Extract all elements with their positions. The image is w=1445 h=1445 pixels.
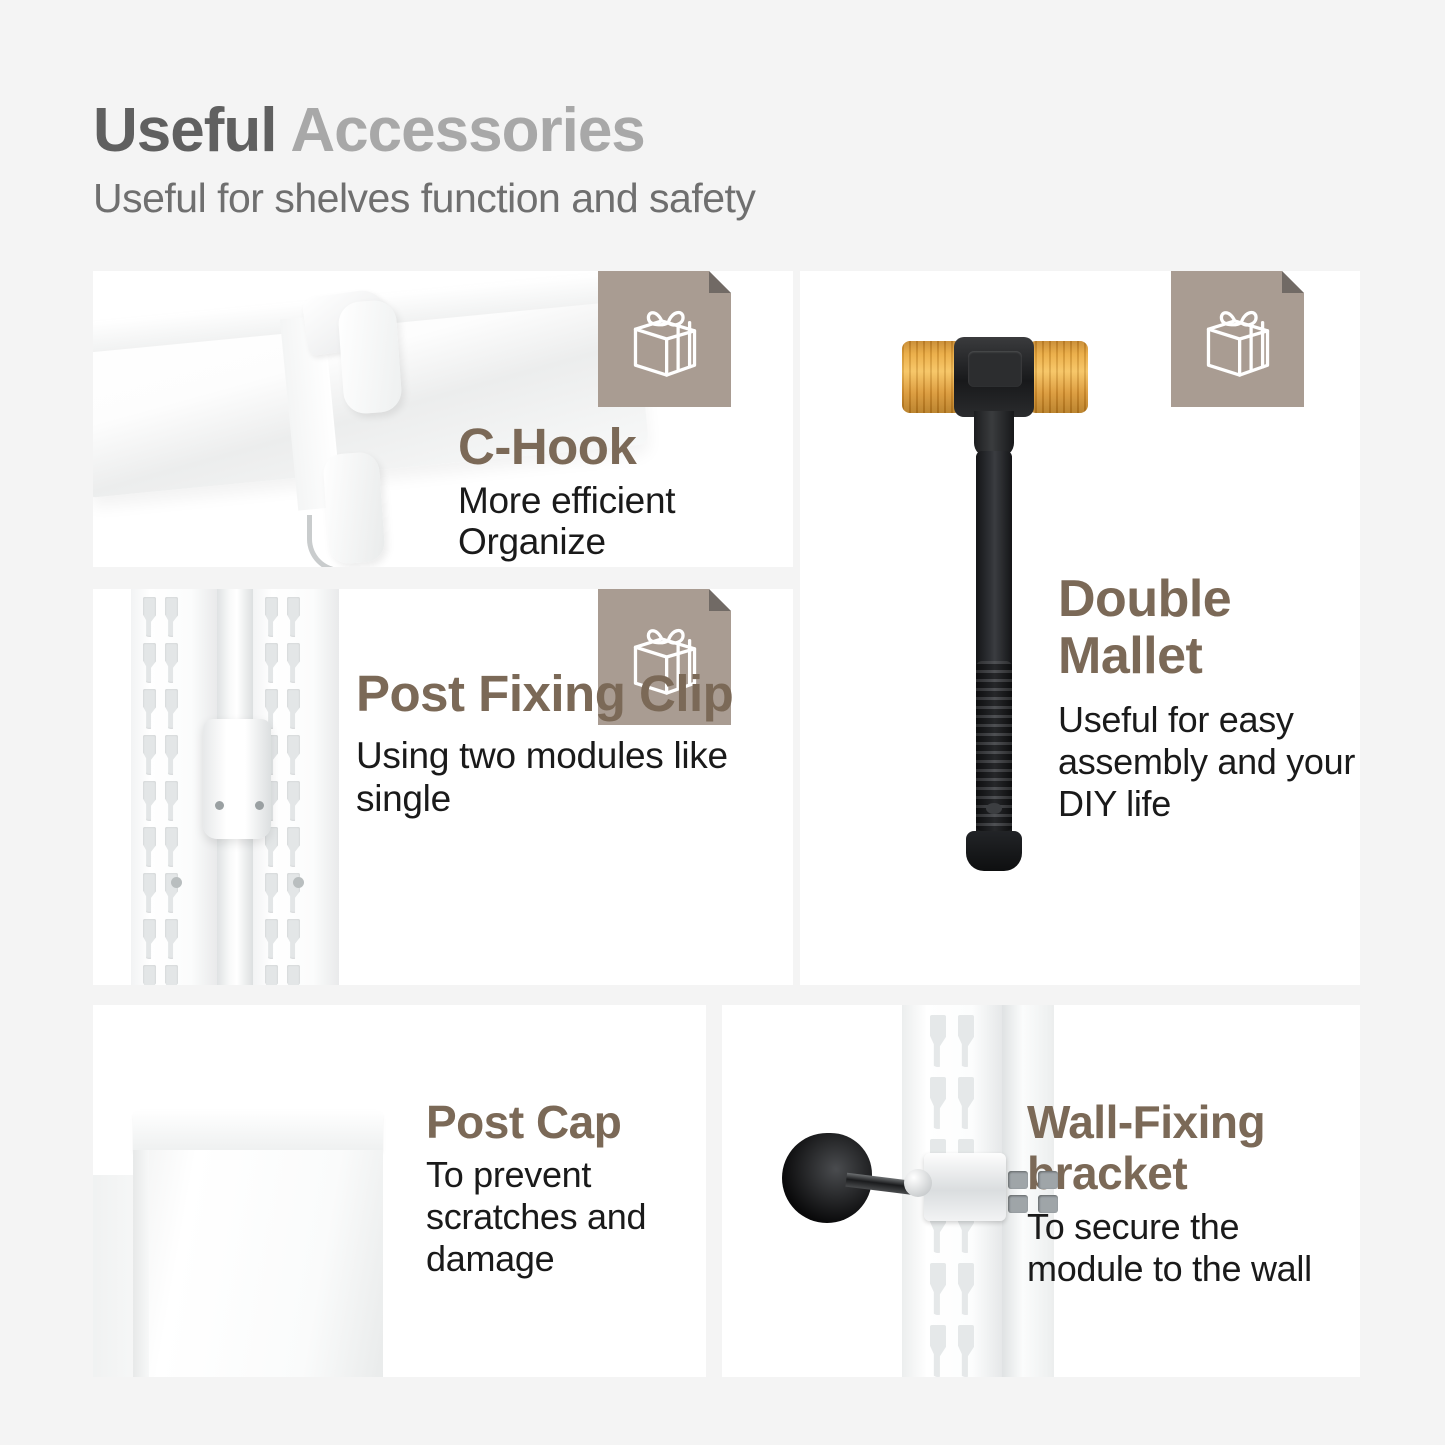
double-mallet-text: Double Mallet Useful for easy assembly a… <box>1058 571 1360 825</box>
post-slot <box>165 965 178 985</box>
c-hook-upper-body <box>337 299 403 415</box>
post-fixing-clip-photo <box>113 589 343 985</box>
gift-badge <box>1171 271 1304 407</box>
bracket-bolt <box>904 1169 932 1197</box>
gift-box-icon <box>1197 298 1279 380</box>
bracket-hole-1 <box>1008 1171 1028 1189</box>
post-cap-description: To prevent scratches and damage <box>426 1154 706 1279</box>
bracket-hole-2 <box>1038 1171 1058 1189</box>
card-c-hook[interactable]: C-Hook More efficient Organize <box>93 271 793 567</box>
wall-fixing-bracket-description: To secure the module to the wall <box>1027 1206 1360 1290</box>
bracket-hole-3 <box>1008 1195 1028 1213</box>
card-wall-fixing-bracket[interactable]: Wall-Fixing bracket To secure the module… <box>722 1005 1360 1377</box>
c-hook-text: C-Hook More efficient Organize <box>458 421 793 563</box>
mallet-pommel <box>966 831 1022 871</box>
mallet-brand-plate <box>968 351 1022 387</box>
post-slot <box>287 965 300 985</box>
page-header: Useful Accessories Useful for shelves fu… <box>93 98 755 222</box>
bracket-plate <box>924 1153 1006 1221</box>
post-fixing-clip-text: Post Fixing Clip Using two modules like … <box>356 665 793 821</box>
page-title-primary: Useful <box>93 96 290 165</box>
page-title-secondary: Accessories <box>290 96 644 165</box>
post-cap-left-edge <box>133 1150 149 1377</box>
page-subtitle: Useful for shelves function and safety <box>93 175 755 222</box>
post-cap-rear-post <box>93 1175 137 1377</box>
infographic-page: Useful Accessories Useful for shelves fu… <box>0 0 1445 1445</box>
post-cap-heading: Post Cap <box>426 1098 706 1146</box>
mallet-handle <box>976 451 1012 851</box>
mallet-head-right-ribs <box>1028 341 1088 413</box>
post-cap-body <box>133 1150 383 1377</box>
post-cap-text: Post Cap To prevent scratches and damage <box>426 1098 706 1280</box>
card-double-mallet[interactable]: Double Mallet Useful for easy assembly a… <box>800 271 1360 985</box>
page-title: Useful Accessories <box>93 98 755 163</box>
c-hook-heading: C-Hook <box>458 421 793 472</box>
gift-box-icon <box>624 298 706 380</box>
post-slot <box>143 965 156 985</box>
bracket-hole-4 <box>1038 1195 1058 1213</box>
fixing-clip-hole-left <box>215 801 224 810</box>
post-rivet-right <box>293 877 304 888</box>
wall-fixing-bracket-text: Wall-Fixing bracket To secure the module… <box>1027 1097 1360 1290</box>
mallet-head-left-ribs <box>902 341 962 413</box>
post-fixing-clip-description: Using two modules like single <box>356 735 793 821</box>
gift-badge-fold-corner <box>709 589 731 611</box>
c-hook-description: More efficient Organize <box>458 480 793 563</box>
gift-badge-fold-corner <box>1282 271 1304 293</box>
mallet-head-left <box>902 341 962 413</box>
mallet-hang-hole <box>986 803 1002 814</box>
post-cap-photo <box>93 1005 413 1377</box>
fixing-clip-hole-right <box>255 801 264 810</box>
fixing-clip-barrel <box>203 719 271 839</box>
card-post-fixing-clip[interactable]: Post Fixing Clip Using two modules like … <box>93 589 793 985</box>
card-post-cap[interactable]: Post Cap To prevent scratches and damage <box>93 1005 706 1377</box>
post-slot <box>265 965 278 985</box>
wall-fixing-bracket-heading: Wall-Fixing bracket <box>1027 1097 1360 1198</box>
post-fixing-clip-heading: Post Fixing Clip <box>356 665 793 723</box>
c-hook-wire-stem <box>307 515 363 567</box>
mallet-head-right <box>1028 341 1088 413</box>
gift-badge-fold-corner <box>709 271 731 293</box>
gift-badge <box>598 271 731 407</box>
post-cap-top <box>133 1110 383 1152</box>
double-mallet-heading: Double Mallet <box>1058 571 1360 685</box>
double-mallet-description: Useful for easy assembly and your DIY li… <box>1058 699 1360 824</box>
post-rivet-left <box>171 877 182 888</box>
